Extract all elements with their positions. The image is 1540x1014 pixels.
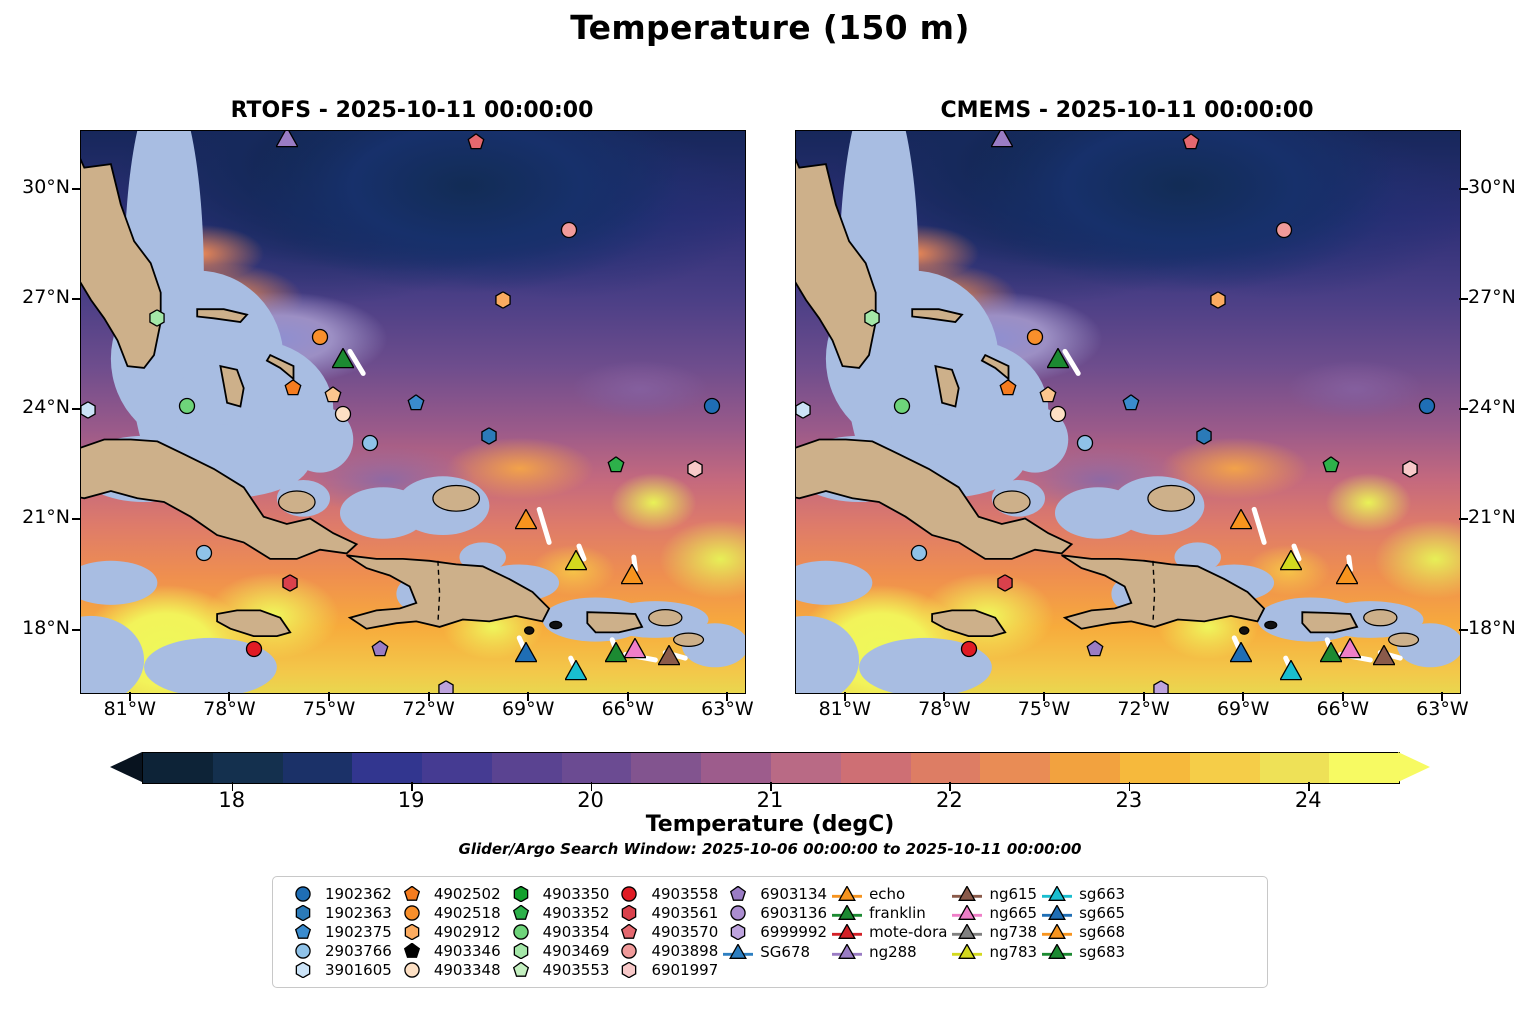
map-marker-echo[interactable] <box>515 509 537 531</box>
lon-tick-label: 81°W <box>800 698 890 720</box>
legend-item-4903350[interactable]: 4903350 <box>501 884 610 903</box>
legend-marker-icon <box>827 923 867 942</box>
legend-marker-icon <box>609 942 649 961</box>
colorbar-band <box>1050 753 1120 783</box>
lon-tickmark <box>627 692 629 701</box>
map-marker-2903766b[interactable] <box>195 545 212 562</box>
lat-tick-label-left: 27°N <box>0 286 70 308</box>
colorbar-band <box>1120 753 1190 783</box>
legend-item-label: 4903350 <box>541 885 610 903</box>
legend-marker-icon <box>827 884 867 903</box>
legend-marker-icon <box>718 884 758 903</box>
map-marker-4903570[interactable] <box>1183 134 1200 151</box>
legend-item-1902362[interactable]: 1902362 <box>283 884 392 903</box>
lon-tick-label: 66°W <box>583 698 673 720</box>
colorbar-band <box>213 753 283 783</box>
legend-item-label: 4903553 <box>541 961 610 979</box>
lon-tickmark <box>527 692 529 701</box>
map-marker-1902363[interactable] <box>481 427 498 444</box>
lat-tick-label-right: 18°N <box>1468 617 1540 639</box>
lon-tick-label: 78°W <box>899 698 989 720</box>
legend-item-sg668[interactable]: sg668 <box>1037 923 1125 942</box>
map-marker-4903354[interactable] <box>179 398 196 415</box>
map-marker-sg665[interactable] <box>515 642 537 664</box>
lon-tick-label: 75°W <box>999 698 1089 720</box>
legend-marker-icon <box>609 923 649 942</box>
legend-marker-icon <box>827 904 867 923</box>
legend-item-4903558[interactable]: 4903558 <box>609 884 718 903</box>
legend-item-label: 4903469 <box>541 942 610 960</box>
legend-item-label: 6901997 <box>649 961 718 979</box>
legend-marker-icon <box>501 903 541 922</box>
legend-item-SG678[interactable]: SG678 <box>718 942 827 961</box>
lat-tickmark <box>1459 298 1468 300</box>
legend-item-4902518[interactable]: 4902518 <box>392 903 501 922</box>
legend-column: 4903558 4903561 4903570 4903898 6901997 <box>609 884 718 980</box>
lon-tick-label: 72°W <box>384 698 474 720</box>
map-marker-franklin[interactable] <box>1047 348 1069 370</box>
legend-item-label: 1902363 <box>323 904 392 922</box>
legend-column: 1902362 1902363 1902375 2903766 3901605 <box>283 884 392 980</box>
legend-item-ng665[interactable]: ng665 <box>947 903 1037 922</box>
map-marker-4902502[interactable] <box>285 380 302 397</box>
colorbar-band <box>1260 753 1330 783</box>
map-marker-4903558[interactable] <box>245 640 262 657</box>
legend-marker-icon <box>609 884 649 903</box>
map-marker-sg683[interactable] <box>605 642 627 664</box>
lat-tick-label-left: 18°N <box>0 617 70 639</box>
colorbar-tick-label: 19 <box>376 788 446 812</box>
map-marker-6903134[interactable] <box>371 640 388 657</box>
lat-tick-label-right: 24°N <box>1468 396 1540 418</box>
map-marker-1902362[interactable] <box>1418 398 1435 415</box>
legend-item-ng288[interactable]: ng288 <box>827 942 947 961</box>
legend-marker-icon <box>947 884 987 903</box>
legend-item-1902375[interactable]: 1902375 <box>283 922 392 941</box>
map-marker-4902518[interactable] <box>312 328 329 345</box>
legend-column: echo franklin mote-dora ng288 <box>827 884 947 980</box>
legend-item-4903570[interactable]: 4903570 <box>609 922 718 941</box>
map-marker-sg683[interactable] <box>1320 642 1342 664</box>
lat-tickmark <box>72 188 81 190</box>
legend-item-label: 1902375 <box>323 923 392 941</box>
legend-marker-icon <box>718 942 758 961</box>
legend-item-4903348[interactable]: 4903348 <box>392 961 501 980</box>
map-marker-4903469[interactable] <box>149 310 166 327</box>
lon-tick-label: 63°W <box>1397 698 1487 720</box>
legend-marker-icon <box>283 961 323 980</box>
legend-item-label: 6999992 <box>758 923 827 941</box>
map-marker-1902375[interactable] <box>1123 394 1140 411</box>
colorbar-band <box>492 753 562 783</box>
lon-tickmark <box>228 692 230 701</box>
map-canvas-cmems <box>796 131 1460 693</box>
map-marker-ng665[interactable] <box>1339 638 1361 660</box>
legend-item-sg683[interactable]: sg683 <box>1037 942 1125 961</box>
map-marker-4903898[interactable] <box>561 222 578 239</box>
panel-title-rtofs: RTOFS - 2025-10-11 00:00:00 <box>80 98 744 123</box>
legend-item-echo[interactable]: echo <box>827 884 947 903</box>
map-marker-4903561[interactable] <box>282 574 299 591</box>
map-marker-6901997[interactable] <box>687 460 704 477</box>
lat-tickmark <box>72 298 81 300</box>
lon-tickmark <box>1441 692 1443 701</box>
colorbar-tick-label: 18 <box>197 788 267 812</box>
colorbar-band <box>143 753 213 783</box>
legend-item-label: ng288 <box>867 943 917 961</box>
map-marker-6901997[interactable] <box>1402 460 1419 477</box>
legend-marker-icon <box>392 923 432 942</box>
colorbar-tick-label: 22 <box>914 788 984 812</box>
legend-item-label: sg663 <box>1077 885 1125 903</box>
legend-item-label: echo <box>867 885 905 903</box>
map-marker-sg663[interactable] <box>1280 660 1302 682</box>
legend-item-franklin[interactable]: franklin <box>827 903 947 922</box>
legend-item-label: 6903134 <box>758 885 827 903</box>
legend-marker-icon <box>501 961 541 980</box>
legend-item-ng783[interactable]: ng783 <box>947 942 1037 961</box>
lon-tick-label: 66°W <box>1298 698 1388 720</box>
map-marker-4903561[interactable] <box>997 574 1014 591</box>
colorbar[interactable] <box>110 752 1430 782</box>
colorbar-tick-label: 21 <box>735 788 805 812</box>
legend-marker-icon <box>1037 942 1077 961</box>
map-marker-4902912[interactable] <box>494 291 511 308</box>
lon-tick-label: 69°W <box>1198 698 1288 720</box>
legend-item-4902502[interactable]: 4902502 <box>392 884 501 903</box>
legend-item-4903346[interactable]: 4903346 <box>392 942 501 961</box>
map-canvas-rtofs <box>81 131 745 693</box>
legend-item-1902363[interactable]: 1902363 <box>283 903 392 922</box>
map-marker-4903352[interactable] <box>1322 457 1339 474</box>
legend-marker-icon <box>501 884 541 903</box>
lat-tickmark <box>72 518 81 520</box>
legend-item-label: ng783 <box>987 943 1037 961</box>
legend-column: 4902502 4902518 4902912 4903346 4903348 <box>392 884 501 980</box>
legend-item-6903134[interactable]: 6903134 <box>718 884 827 903</box>
lon-tickmark <box>1143 692 1145 701</box>
legend-item-label: 4903570 <box>649 923 718 941</box>
legend-marker-icon <box>1037 884 1077 903</box>
legend-marker-icon <box>392 903 432 922</box>
lat-tickmark <box>72 408 81 410</box>
legend-marker-icon <box>1037 923 1077 942</box>
legend-marker-icon <box>283 942 323 961</box>
lat-tick-label-right: 27°N <box>1468 286 1540 308</box>
map-marker-4903354[interactable] <box>894 398 911 415</box>
lat-tick-label-right: 21°N <box>1468 506 1540 528</box>
map-marker-6999992[interactable] <box>438 681 455 694</box>
legend-item-6901997[interactable]: 6901997 <box>609 961 718 980</box>
legend-marker-icon <box>827 942 867 961</box>
legend-item-label: sg668 <box>1077 923 1125 941</box>
colorbar-title: Temperature (degC) <box>0 812 1540 837</box>
legend-item-4903553[interactable]: 4903553 <box>501 961 610 980</box>
lat-tick-label-left: 24°N <box>0 396 70 418</box>
lon-tickmark <box>328 692 330 701</box>
legend-marker-icon <box>392 961 432 980</box>
legend-item-label: 4903352 <box>541 904 610 922</box>
map-marker-1902375[interactable] <box>408 394 425 411</box>
legend-item-6999992[interactable]: 6999992 <box>718 923 827 942</box>
legend-item-label: 4902912 <box>432 923 501 941</box>
map-marker-4903352[interactable] <box>607 457 624 474</box>
legend-marker-icon <box>283 923 323 942</box>
map-marker-4903469[interactable] <box>864 310 881 327</box>
legend-item-label: 4903898 <box>649 942 718 960</box>
lon-tickmark <box>1242 692 1244 701</box>
lat-tickmark <box>1459 188 1468 190</box>
lat-tickmark <box>1459 518 1468 520</box>
legend-marker-icon <box>1037 904 1077 923</box>
map-marker-ng288[interactable] <box>991 130 1013 149</box>
lon-tickmark <box>844 692 846 701</box>
colorbar-band <box>283 753 353 783</box>
map-panel-cmems[interactable] <box>795 130 1461 694</box>
lon-tick-label: 63°W <box>682 698 772 720</box>
lon-tickmark <box>1043 692 1045 701</box>
map-marker-4903898[interactable] <box>1276 222 1293 239</box>
legend-item-4903561[interactable]: 4903561 <box>609 903 718 922</box>
legend-item-4903354[interactable]: 4903354 <box>501 922 610 941</box>
legend-item-label: ng738 <box>987 923 1037 941</box>
colorbar-tick-label: 23 <box>1094 788 1164 812</box>
legend-item-label: 4903346 <box>432 942 501 960</box>
map-marker-4903346[interactable] <box>325 387 342 404</box>
map-marker-3901605[interactable] <box>795 402 811 419</box>
legend-item-sg663[interactable]: sg663 <box>1037 884 1125 903</box>
lon-tick-label: 69°W <box>483 698 573 720</box>
legend-column: ng615 ng665 ng738 ng783 <box>947 884 1037 980</box>
legend-item-label: sg683 <box>1077 943 1125 961</box>
lon-tickmark <box>129 692 131 701</box>
map-marker-1902363[interactable] <box>1196 427 1213 444</box>
map-marker-ng615[interactable] <box>658 645 680 667</box>
map-marker-6903134[interactable] <box>1086 640 1103 657</box>
map-marker-ng665[interactable] <box>624 638 646 660</box>
search-window-caption: Glider/Argo Search Window: 2025-10-06 00… <box>0 840 1540 858</box>
legend-marker-icon <box>392 884 432 903</box>
panel-title-cmems: CMEMS - 2025-10-11 00:00:00 <box>795 98 1459 123</box>
legend-column: 4903350 4903352 4903354 4903469 4903553 <box>501 884 610 980</box>
map-marker-ng615[interactable] <box>1373 645 1395 667</box>
legend-item-4903898[interactable]: 4903898 <box>609 942 718 961</box>
lat-tick-label-left: 30°N <box>0 176 70 198</box>
colorbar-band <box>771 753 841 783</box>
colorbar-band <box>980 753 1050 783</box>
legend-item-4903352[interactable]: 4903352 <box>501 903 610 922</box>
colorbar-band <box>1329 753 1399 783</box>
colorbar-band <box>701 753 771 783</box>
legend-marker-icon <box>609 961 649 980</box>
legend-item-label: mote-dora <box>867 923 947 941</box>
legend-item-3901605[interactable]: 3901605 <box>283 961 392 980</box>
legend-marker-icon <box>718 904 758 923</box>
lat-tick-label-right: 30°N <box>1468 176 1540 198</box>
map-marker-ng783[interactable] <box>565 550 587 572</box>
legend-item-label: franklin <box>867 904 926 922</box>
map-marker-ng288[interactable] <box>276 130 298 149</box>
legend-item-label: 6903136 <box>758 904 827 922</box>
lon-tickmark <box>1342 692 1344 701</box>
legend-item-4903469[interactable]: 4903469 <box>501 942 610 961</box>
legend-item-6903136[interactable]: 6903136 <box>718 903 827 922</box>
legend-marker-icon <box>392 942 432 961</box>
legend-column: 6903134 6903136 6999992 SG678 <box>718 884 827 980</box>
map-marker-2903766[interactable] <box>1076 435 1093 452</box>
map-marker-sg665[interactable] <box>1230 642 1252 664</box>
lon-tick-label: 78°W <box>184 698 274 720</box>
legend[interactable]: 1902362 1902363 1902375 2903766 3901605 … <box>272 876 1268 988</box>
legend-column: sg663 sg665 sg668 sg683 <box>1037 884 1125 980</box>
legend-marker-icon <box>501 942 541 961</box>
colorbar-band <box>422 753 492 783</box>
legend-item-label: 4902518 <box>432 904 501 922</box>
legend-marker-icon <box>947 904 987 923</box>
legend-item-label: ng615 <box>987 885 1037 903</box>
colorbar-extend-high <box>1398 752 1430 782</box>
legend-marker-icon <box>501 923 541 942</box>
colorbar-band <box>1190 753 1260 783</box>
legend-item-mote-dora[interactable]: mote-dora <box>827 923 947 942</box>
lat-tick-label-left: 21°N <box>0 506 70 528</box>
legend-item-label: 4903348 <box>432 961 501 979</box>
colorbar-tick-label: 20 <box>556 788 626 812</box>
map-marker-4902518[interactable] <box>1027 328 1044 345</box>
legend-marker-icon <box>947 942 987 961</box>
map-marker-2903766b[interactable] <box>910 545 927 562</box>
legend-item-label: 1902362 <box>323 885 392 903</box>
colorbar-tick-label: 24 <box>1273 788 1343 812</box>
map-marker-1902362[interactable] <box>703 398 720 415</box>
legend-marker-icon <box>609 903 649 922</box>
colorbar-band <box>841 753 911 783</box>
lat-tickmark <box>1459 629 1468 631</box>
colorbar-extend-low <box>110 752 142 782</box>
map-marker-sg663[interactable] <box>565 660 587 682</box>
lon-tick-label: 81°W <box>85 698 175 720</box>
map-marker-franklin[interactable] <box>332 348 354 370</box>
lat-tickmark <box>72 629 81 631</box>
map-marker-sg668[interactable] <box>621 564 643 586</box>
legend-item-2903766[interactable]: 2903766 <box>283 942 392 961</box>
lon-tick-label: 75°W <box>284 698 374 720</box>
map-marker-echo[interactable] <box>1230 509 1252 531</box>
map-marker-4903570[interactable] <box>468 134 485 151</box>
legend-item-label: 4903354 <box>541 923 610 941</box>
legend-item-label: SG678 <box>758 943 810 961</box>
legend-item-4902912[interactable]: 4902912 <box>392 922 501 941</box>
colorbar-band <box>562 753 632 783</box>
legend-marker-icon <box>947 923 987 942</box>
lon-tickmark <box>726 692 728 701</box>
map-panel-rtofs[interactable] <box>80 130 746 694</box>
legend-item-ng615[interactable]: ng615 <box>947 884 1037 903</box>
map-marker-4903348[interactable] <box>335 405 352 422</box>
map-marker-4902912[interactable] <box>1209 291 1226 308</box>
map-marker-6999992[interactable] <box>1153 681 1170 694</box>
colorbar-band <box>352 753 422 783</box>
colorbar-band <box>631 753 701 783</box>
colorbar-band <box>911 753 981 783</box>
lon-tickmark <box>943 692 945 701</box>
legend-item-label: 3901605 <box>323 961 392 979</box>
figure-canvas: Temperature (150 m) RTOFS - 2025-10-11 0… <box>0 0 1540 1014</box>
legend-item-label: 4903558 <box>649 885 718 903</box>
legend-item-label: 4902502 <box>432 885 501 903</box>
legend-item-label: 4903561 <box>649 904 718 922</box>
legend-item-label: sg665 <box>1077 904 1125 922</box>
legend-marker-icon <box>283 903 323 922</box>
legend-marker-icon <box>718 923 758 942</box>
map-marker-4903348[interactable] <box>1050 405 1067 422</box>
map-marker-4902502[interactable] <box>1000 380 1017 397</box>
map-marker-3901605[interactable] <box>80 402 96 419</box>
legend-item-ng738[interactable]: ng738 <box>947 923 1037 942</box>
legend-item-label: 2903766 <box>323 942 392 960</box>
lat-tickmark <box>1459 408 1468 410</box>
map-marker-2903766[interactable] <box>361 435 378 452</box>
map-marker-sg668[interactable] <box>1336 564 1358 586</box>
lon-tickmark <box>428 692 430 701</box>
map-marker-ng783[interactable] <box>1280 550 1302 572</box>
legend-marker-icon <box>283 884 323 903</box>
map-marker-4903346[interactable] <box>1040 387 1057 404</box>
lon-tick-label: 72°W <box>1099 698 1189 720</box>
colorbar-gradient <box>142 752 1400 784</box>
page-title: Temperature (150 m) <box>0 8 1540 47</box>
legend-item-sg665[interactable]: sg665 <box>1037 903 1125 922</box>
map-marker-4903558[interactable] <box>960 640 977 657</box>
legend-item-label: ng665 <box>987 904 1037 922</box>
